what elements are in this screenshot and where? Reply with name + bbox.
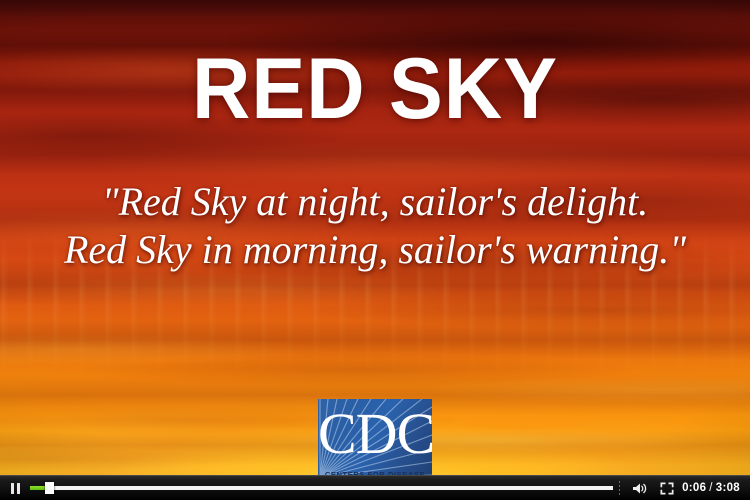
progress-scrubber-handle[interactable] bbox=[45, 482, 54, 494]
player-control-bar: 0:06/3:08 bbox=[0, 475, 750, 500]
fullscreen-button[interactable] bbox=[652, 476, 682, 500]
pause-icon-bar2 bbox=[17, 483, 20, 494]
pause-icon bbox=[11, 483, 14, 494]
progress-bar[interactable] bbox=[30, 476, 613, 500]
cdc-logo-text: CDC bbox=[318, 403, 432, 465]
control-separator bbox=[619, 481, 620, 495]
current-time: 0:06 bbox=[682, 482, 706, 494]
progress-buffer bbox=[30, 486, 613, 490]
video-title: RED SKY bbox=[23, 44, 728, 134]
volume-button[interactable] bbox=[626, 476, 652, 500]
pause-button[interactable] bbox=[0, 476, 30, 500]
time-display: 0:06/3:08 bbox=[682, 482, 750, 494]
quote-line-1: "Red Sky at night, sailor's delight. bbox=[0, 178, 750, 226]
video-quote: "Red Sky at night, sailor's delight. Red… bbox=[0, 178, 750, 274]
quote-line-2: Red Sky in morning, sailor's warning." bbox=[0, 226, 750, 274]
time-separator: / bbox=[706, 482, 716, 494]
cdc-logo: CDC bbox=[318, 399, 432, 478]
video-player: RED SKY "Red Sky at night, sailor's deli… bbox=[0, 0, 750, 500]
total-time: 3:08 bbox=[716, 482, 740, 494]
